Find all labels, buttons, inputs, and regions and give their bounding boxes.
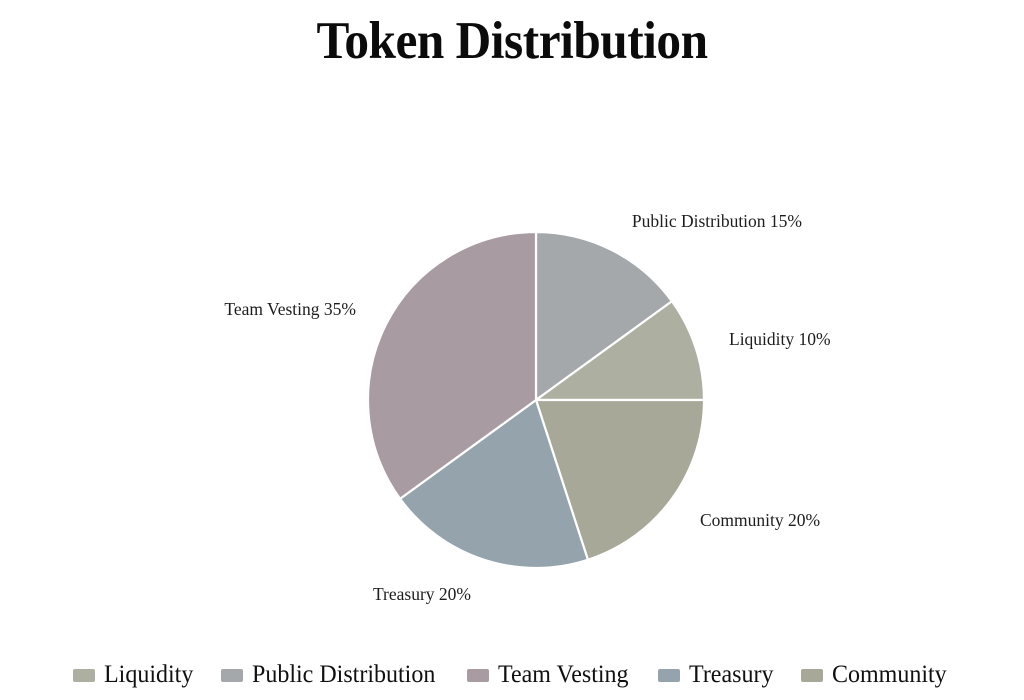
legend-swatch-icon	[658, 669, 680, 682]
pie-slice-label: Public Distribution 15%	[632, 210, 802, 232]
legend-item-label: Treasury	[689, 660, 773, 690]
legend-item-label: Liquidity	[104, 660, 193, 690]
legend-swatch-icon	[467, 669, 489, 682]
pie-slice-label: Team Vesting 35%	[224, 298, 356, 320]
pie-svg	[0, 0, 1024, 640]
legend-item-label: Team Vesting	[498, 660, 629, 690]
pie-chart-figure: Token Distribution Public Distribution 1…	[0, 0, 1024, 700]
legend-item[interactable]: Treasury	[658, 660, 777, 690]
pie-slice-label: Treasury 20%	[373, 583, 471, 605]
chart-legend: LiquidityPublic DistributionTeam Vesting…	[0, 660, 1024, 690]
pie-slice-label: Liquidity 10%	[729, 328, 831, 350]
legend-swatch-icon	[73, 669, 95, 682]
legend-swatch-icon	[801, 669, 823, 682]
pie-slice-label: Community 20%	[700, 509, 820, 531]
pie-plot-area: Public Distribution 15%Liquidity 10%Comm…	[0, 0, 1024, 640]
legend-item[interactable]: Public Distribution	[221, 660, 443, 690]
pie-slice-group	[368, 232, 704, 568]
legend-swatch-icon	[221, 669, 243, 682]
legend-item-label: Community	[832, 660, 947, 690]
legend-item[interactable]: Team Vesting	[467, 660, 634, 690]
legend-item[interactable]: Community	[801, 660, 951, 690]
legend-item[interactable]: Liquidity	[73, 660, 197, 690]
legend-item-label: Public Distribution	[252, 660, 435, 690]
